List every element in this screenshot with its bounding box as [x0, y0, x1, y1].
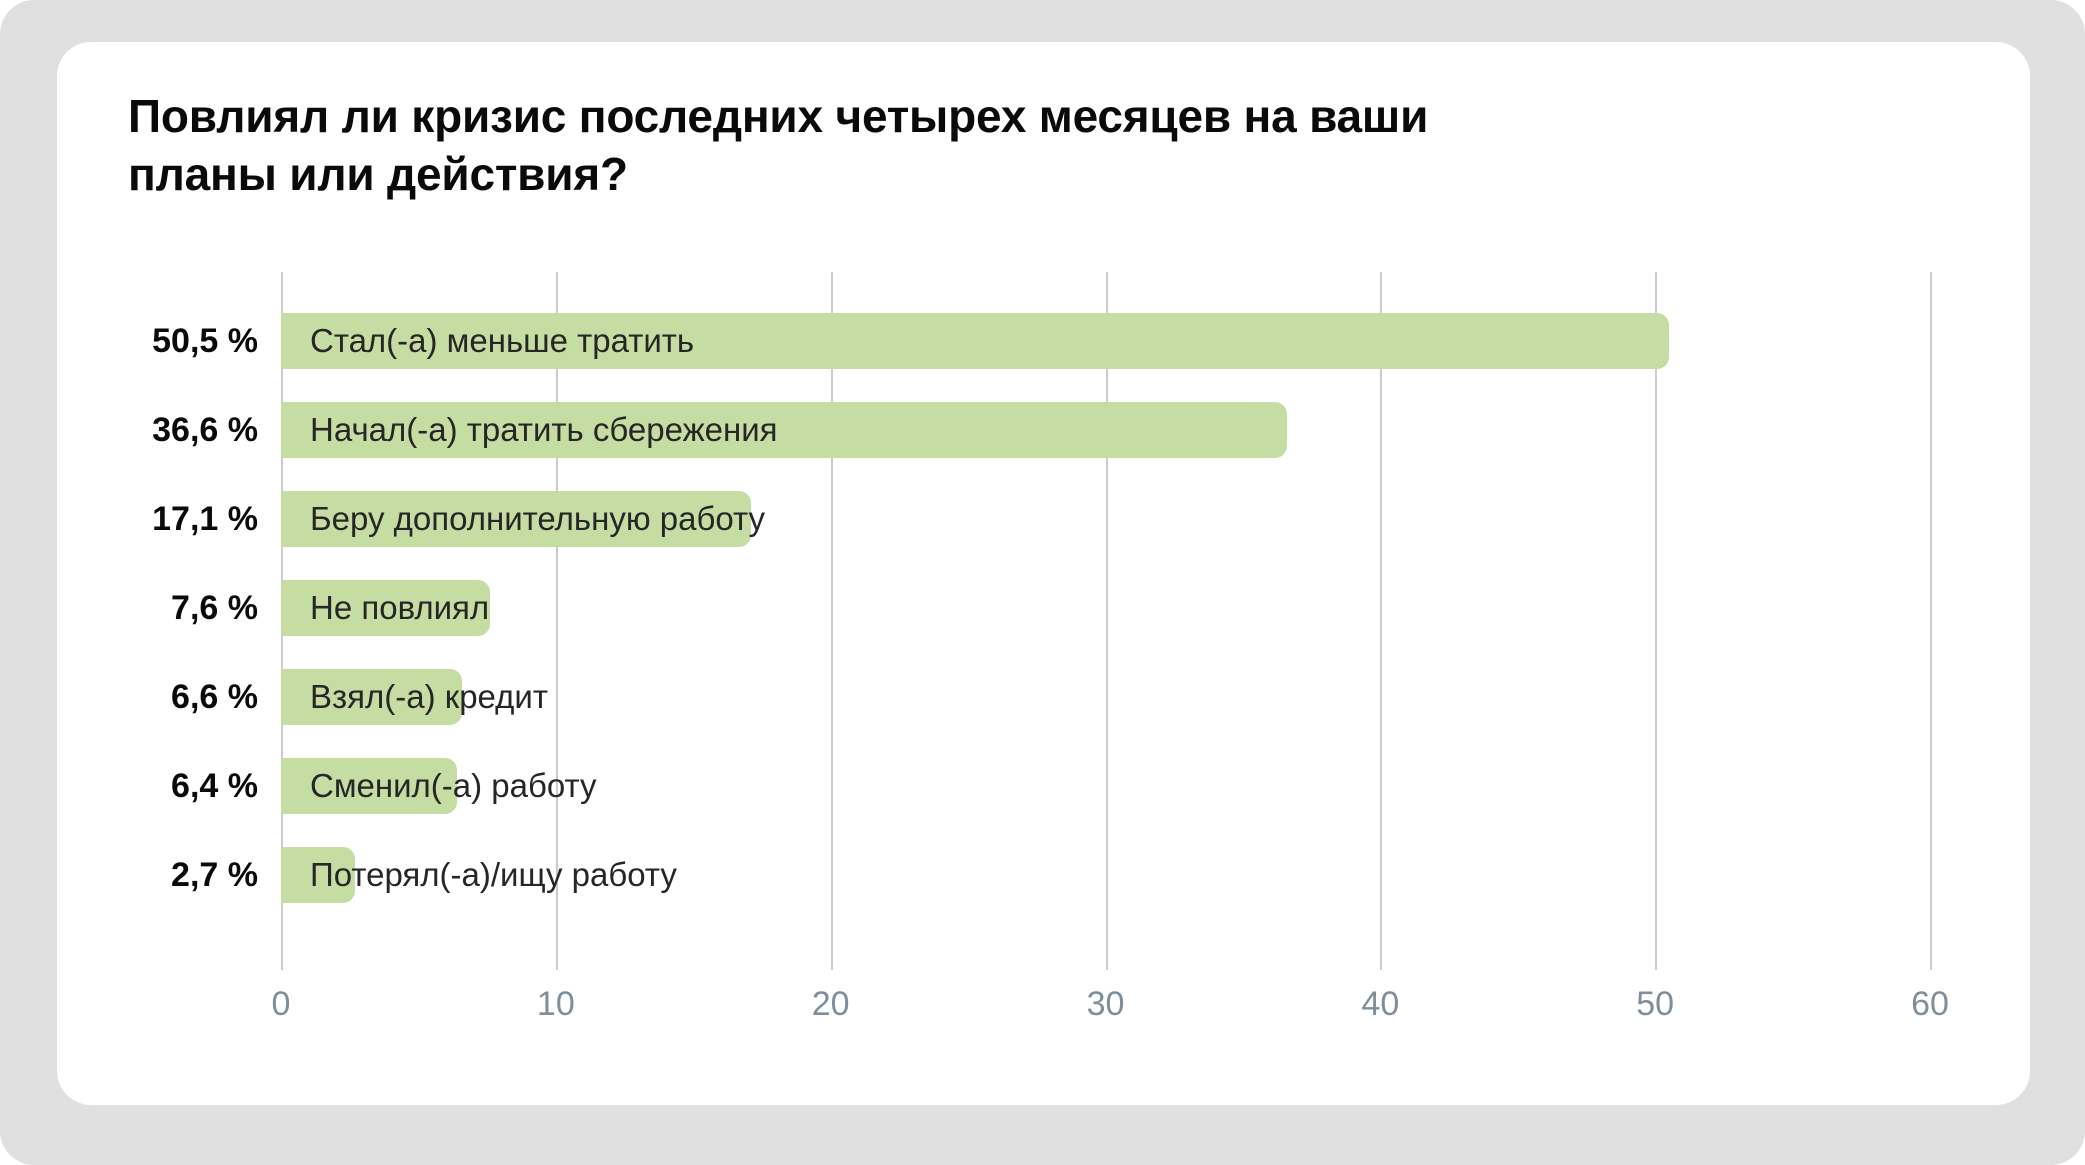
bar-value-label: 50,5 %: [34, 313, 258, 369]
x-tick-label: 60: [1911, 984, 1949, 1024]
bar-value-label: 36,6 %: [34, 402, 258, 458]
bar-value-label: 17,1 %: [34, 491, 258, 547]
bar[interactable]: [281, 313, 1669, 369]
bar-row[interactable]: Не повлиял: [281, 580, 1930, 636]
x-tick-label: 20: [812, 984, 850, 1024]
chart-plot-area: 0102030405060 Стал(-а) меньше тратитьНач…: [281, 272, 1930, 970]
bar-value-label: 6,4 %: [34, 758, 258, 814]
bar-value-label: 6,6 %: [34, 669, 258, 725]
screenshot-canvas: Повлиял ли кризис последних четырех меся…: [0, 0, 2085, 1165]
bar-category-label: Потерял(-а)/ищу работу: [310, 847, 677, 903]
page-title: Повлиял ли кризис последних четырех меся…: [128, 87, 1828, 203]
x-tick-label: 50: [1636, 984, 1674, 1024]
bar-row[interactable]: Сменил(-а) работу: [281, 758, 1930, 814]
bar[interactable]: [281, 758, 457, 814]
bar-value-label: 7,6 %: [34, 580, 258, 636]
x-tick-label: 0: [272, 984, 291, 1024]
bar[interactable]: [281, 580, 490, 636]
bar-row[interactable]: Взял(-а) кредит: [281, 669, 1930, 725]
bar-row[interactable]: Начал(-а) тратить сбережения: [281, 402, 1930, 458]
bar-row[interactable]: Стал(-а) меньше тратить: [281, 313, 1930, 369]
bar-value-label: 2,7 %: [34, 847, 258, 903]
bar-row[interactable]: Беру дополнительную работу: [281, 491, 1930, 547]
x-tick-label: 40: [1361, 984, 1399, 1024]
bar[interactable]: [281, 669, 462, 725]
bar[interactable]: [281, 402, 1287, 458]
bar-row[interactable]: Потерял(-а)/ищу работу: [281, 847, 1930, 903]
gridline-60: [1930, 272, 1932, 970]
chart-card: Повлиял ли кризис последних четырех меся…: [57, 42, 2030, 1105]
bar[interactable]: [281, 847, 355, 903]
bar[interactable]: [281, 491, 751, 547]
x-tick-label: 10: [537, 984, 575, 1024]
x-tick-label: 30: [1087, 984, 1125, 1024]
